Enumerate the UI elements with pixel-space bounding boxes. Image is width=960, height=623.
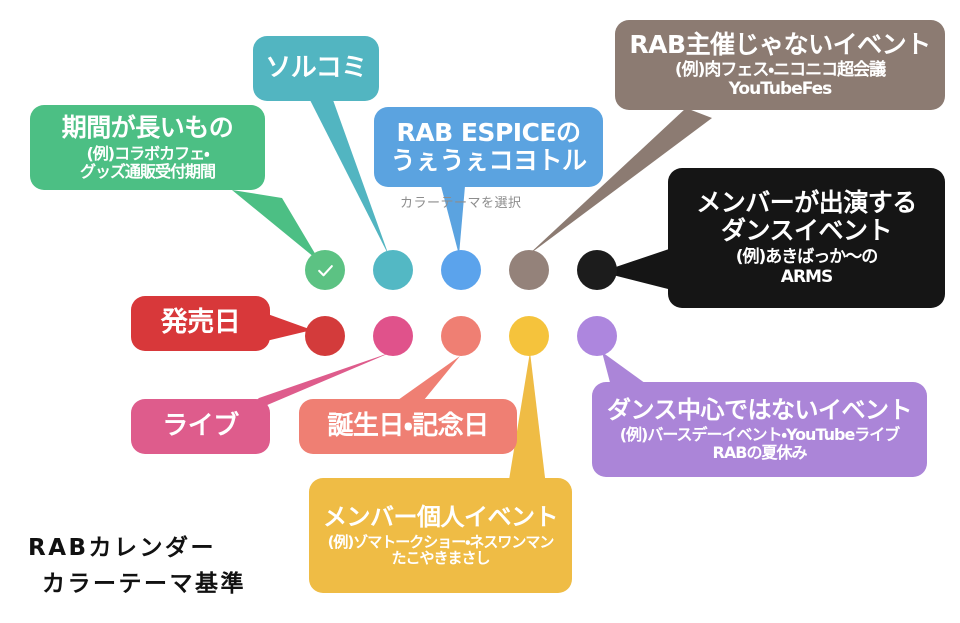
callout-purple-title: ダンス中心ではないイベント	[607, 397, 912, 424]
callout-teal[interactable]: ソルコミ	[253, 36, 379, 101]
color-swatch-blue[interactable]	[441, 250, 481, 290]
page-title-line-2: カラーテーマ基準	[28, 567, 246, 603]
callout-green-line-2: グッズ通販受付期間	[80, 163, 215, 181]
color-swatch-teal[interactable]	[373, 250, 413, 290]
callout-purple[interactable]: ダンス中心ではないイベント (例)バースデーイベント・YouTubeライブ RA…	[592, 382, 927, 477]
color-swatch-red[interactable]	[305, 316, 345, 356]
callout-salmon[interactable]: 誕生日・記念日	[299, 399, 517, 454]
page-title-line-1: RABカレンダー	[28, 531, 246, 567]
callout-green[interactable]: 期間が長いもの (例)コラボカフェ・ グッズ通販受付期間	[30, 105, 265, 190]
callout-brown-line-2: YouTubeFes	[729, 80, 832, 99]
callout-green-title: 期間が長いもの	[62, 114, 234, 142]
callout-black-line-1: (例)あきばっか～の	[736, 248, 878, 267]
callout-yellow[interactable]: メンバー個人イベント (例)ゾマトークショー・ネスワンマン たこやきまさし	[309, 478, 572, 593]
callout-yellow-title: メンバー個人イベント	[323, 504, 558, 531]
callout-blue-line-1: うぇうぇコヨトル	[390, 147, 586, 175]
check-icon	[316, 261, 335, 280]
callout-brown[interactable]: RAB主催じゃないイベント (例)肉フェス・ニコニコ超会議 YouTubeFes	[615, 20, 945, 110]
callout-salmon-title: 誕生日・記念日	[327, 412, 488, 441]
page-title: RABカレンダー カラーテーマ基準	[28, 531, 246, 602]
color-swatch-purple[interactable]	[577, 316, 617, 356]
callout-brown-line-1: (例)肉フェス・ニコニコ超会議	[675, 61, 885, 80]
callout-black-title-1: メンバーが出演する	[696, 189, 917, 217]
callout-pink-title: ライブ	[162, 412, 239, 441]
callout-red[interactable]: 発売日	[131, 296, 270, 351]
color-swatch-brown[interactable]	[509, 250, 549, 290]
color-swatch-salmon[interactable]	[441, 316, 481, 356]
color-theme-hint: カラーテーマを選択	[400, 192, 522, 211]
connector-green	[232, 190, 320, 262]
callout-red-title: 発売日	[161, 308, 241, 338]
callout-purple-line-2: RABの夏休み	[713, 444, 807, 462]
callout-green-line-1: (例)コラボカフェ・	[86, 145, 208, 163]
color-swatch-pink[interactable]	[373, 316, 413, 356]
callout-yellow-line-2: たこやきまさし	[391, 550, 489, 567]
color-swatch-green[interactable]	[305, 250, 345, 290]
color-swatch-black[interactable]	[577, 250, 617, 290]
callout-brown-title: RAB主催じゃないイベント	[629, 31, 930, 59]
callout-blue[interactable]: RAB ESPICEの うぇうぇコヨトル	[374, 107, 603, 187]
callout-blue-title: RAB ESPICEの	[397, 119, 581, 147]
callout-black-title-2: ダンスイベント	[721, 217, 892, 245]
color-theme-legend-canvas: 期間が長いもの (例)コラボカフェ・ グッズ通販受付期間 ソルコミ RAB ES…	[0, 0, 960, 623]
callout-black[interactable]: メンバーが出演する ダンスイベント (例)あきばっか～の ARMS	[668, 168, 945, 308]
callout-pink[interactable]: ライブ	[131, 399, 270, 454]
color-swatch-yellow[interactable]	[509, 316, 549, 356]
callout-teal-title: ソルコミ	[265, 54, 366, 83]
callout-black-line-2: ARMS	[781, 268, 832, 287]
connector-salmon	[398, 356, 460, 400]
callout-yellow-line-1: (例)ゾマトークショー・ネスワンマン	[328, 534, 554, 551]
callout-purple-line-1: (例)バースデーイベント・YouTubeライブ	[620, 426, 900, 444]
